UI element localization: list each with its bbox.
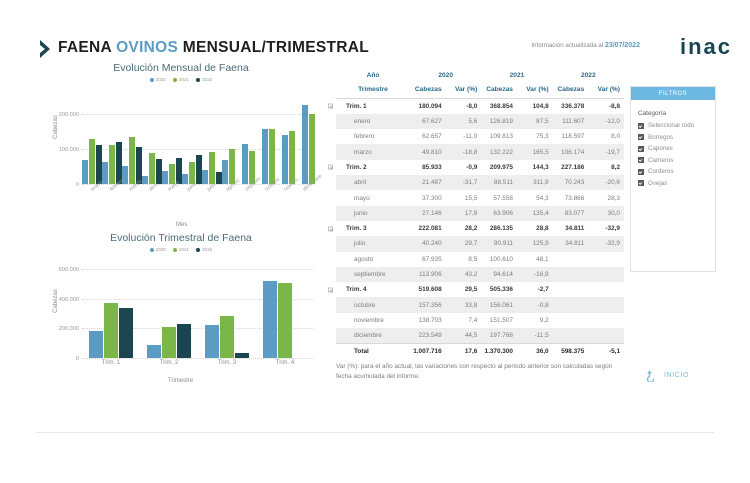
bar-2020[interactable]: [162, 171, 168, 184]
monthly-x-axis: enerofebreromarzoabrilmayojuniojulioagos…: [82, 186, 314, 220]
updated-info: Información actualizada al 23/07/2022: [531, 42, 640, 49]
cell-cabezas-2022: 598.375: [553, 343, 589, 358]
bar-2021[interactable]: [129, 137, 135, 184]
cell-cabezas-2022: [553, 267, 589, 282]
bar-group: [256, 266, 314, 358]
filter-option-label: Capones: [648, 145, 673, 152]
legend-item-2022: 2022: [196, 247, 212, 252]
cell-var-2020: 17,9: [446, 206, 482, 221]
table-body: Trim. 1180.094-8,0368.854104,8336.378-8,…: [336, 99, 624, 359]
row-period-label: mayo: [336, 190, 410, 205]
cell-var-2022: -32,9: [588, 236, 624, 251]
row-period-label: junio: [336, 206, 410, 221]
table-header-years: Año 2020 2021 2022: [336, 68, 624, 83]
cell-cabezas-2022: [553, 297, 589, 312]
bar-group: [242, 96, 262, 184]
bar-2021[interactable]: [278, 283, 292, 358]
cell-var-2022: 30,0: [588, 206, 624, 221]
cell-cabezas-2022: 83.077: [553, 206, 589, 221]
table-row: julio40.24029,790.911125,934.811-32,9: [336, 236, 624, 251]
table-head: Año 2020 2021 2022 Trimestre Cabezas Var…: [336, 68, 624, 99]
col-var-2021: Var (%): [517, 83, 553, 98]
bar-2021[interactable]: [149, 153, 155, 184]
bar-2020[interactable]: [205, 325, 219, 358]
quarterly-chart: Evolución Trimestral de Faena 2020202120…: [36, 232, 326, 402]
collapse-toggle-icon[interactable]: [328, 226, 333, 231]
table-row: marzo49.810-18,8132.222165,5106.174-19,7: [336, 144, 624, 159]
bar-group: [282, 96, 302, 184]
legend-item-2020: 2020: [150, 77, 166, 82]
cell-var-2020: 15,5: [446, 190, 482, 205]
bar-group: [198, 266, 256, 358]
x-axis-tick-label: Trim. 1: [82, 360, 140, 382]
col-year-2020: 2020: [410, 68, 481, 83]
filters-body: Categoría Seleccionar todoBorregosCapone…: [631, 100, 715, 197]
cell-cabezas-2021: 109.813: [481, 129, 517, 144]
bar-2020[interactable]: [202, 170, 208, 184]
bar-group: [82, 96, 102, 184]
legend-label: 2021: [179, 77, 189, 82]
monthly-chart-title: Evolución Mensual de Faena: [36, 62, 326, 74]
filters-title: FILTROS: [631, 87, 715, 100]
cell-cabezas-2021: 286.135: [481, 221, 517, 236]
legend-label: 2022: [202, 77, 212, 82]
page-title-suffix: MENSUAL/TRIMESTRAL: [183, 39, 369, 56]
cell-var-2021: 48,1: [517, 252, 553, 267]
table-row: Total1.007.71617,61.370.30036,0598.375-5…: [336, 343, 624, 358]
col-year-2022: 2022: [553, 68, 624, 83]
bar-group: [262, 96, 282, 184]
bar-2021[interactable]: [104, 303, 118, 358]
row-period-label: septiembre: [336, 267, 410, 282]
table-header-subcolumns: Trimestre Cabezas Var (%) Cabezas Var (%…: [336, 83, 624, 98]
monthly-plot-area: 0100.000200.000: [82, 96, 314, 184]
cell-var-2020: 17,6: [446, 343, 482, 358]
bar-2021[interactable]: [89, 139, 95, 184]
table-row: octubre157.35633,8156.061-0,8: [336, 297, 624, 312]
col-cabezas-2021: Cabezas: [481, 83, 517, 98]
checkbox-checked-icon[interactable]: [638, 146, 644, 152]
cell-var-2022: -20,6: [588, 175, 624, 190]
row-period-label: Trim. 1: [336, 99, 410, 114]
filter-group-label: Categoría: [638, 110, 709, 117]
row-period-label: Total: [336, 343, 410, 358]
filter-option-capones[interactable]: Capones: [638, 145, 709, 152]
cell-cabezas-2020: 67.627: [410, 114, 446, 129]
page-title-prefix: FAENA: [58, 39, 111, 56]
legend-item-2022: 2022: [196, 77, 212, 82]
cell-cabezas-2022: [553, 282, 589, 297]
legend-swatch-icon: [196, 248, 200, 252]
filter-option-carneros[interactable]: Carneros: [638, 157, 709, 164]
table-row[interactable]: Trim. 4519.60829,5505.336-2,7: [336, 282, 624, 297]
cell-var-2022: [588, 282, 624, 297]
row-period-label: noviembre: [336, 313, 410, 328]
cell-var-2020: -8,0: [446, 99, 482, 114]
bar-2021[interactable]: [109, 145, 115, 184]
cell-cabezas-2021: 1.370.300: [481, 343, 517, 358]
cell-var-2022: -19,7: [588, 144, 624, 159]
cell-var-2021: -11,5: [517, 328, 553, 343]
filter-option-corderos[interactable]: Corderos: [638, 168, 709, 175]
cell-var-2021: 125,9: [517, 236, 553, 251]
quarterly-chart-legend: 202020212022: [36, 247, 326, 252]
legend-swatch-icon: [196, 78, 200, 82]
table-row: diciembre223.54944,5197.768-11,5: [336, 328, 624, 343]
page-title: FAENA OVINOS MENSUAL/TRIMESTRAL: [58, 39, 369, 57]
cell-cabezas-2022: 336.378: [553, 99, 589, 114]
cell-cabezas-2020: 1.007.716: [410, 343, 446, 358]
cell-var-2020: 8,5: [446, 252, 482, 267]
updated-date: 23/07/2022: [605, 42, 640, 49]
bar-2020[interactable]: [282, 135, 288, 184]
cell-cabezas-2021: 63.906: [481, 206, 517, 221]
table-row: junio27.14617,963.906135,483.07730,0: [336, 206, 624, 221]
bar-group-container: [82, 96, 314, 184]
bar-group: [102, 96, 122, 184]
back-arrow-icon: [645, 368, 659, 382]
cell-cabezas-2021: 209.975: [481, 160, 517, 175]
cell-var-2022: [588, 267, 624, 282]
cell-cabezas-2020: 27.146: [410, 206, 446, 221]
cell-var-2022: -8,8: [588, 99, 624, 114]
cell-cabezas-2021: 368.854: [481, 99, 517, 114]
bar-2020[interactable]: [147, 345, 161, 358]
cell-cabezas-2021: 94.614: [481, 267, 517, 282]
cell-cabezas-2021: 100.610: [481, 252, 517, 267]
cell-var-2021: 54,3: [517, 190, 553, 205]
filter-option-borregos[interactable]: Borregos: [638, 134, 709, 141]
legend-item-2020: 2020: [150, 247, 166, 252]
cell-var-2020: 29,7: [446, 236, 482, 251]
cell-var-2021: -16,9: [517, 267, 553, 282]
updated-label: Información actualizada al: [531, 42, 603, 49]
cell-cabezas-2020: 519.608: [410, 282, 446, 297]
bar-group: [162, 96, 182, 184]
y-axis-tick-label: 0: [76, 356, 79, 362]
bar-2022[interactable]: [119, 308, 133, 358]
cell-cabezas-2021: 126.819: [481, 114, 517, 129]
bar-2020[interactable]: [82, 160, 88, 184]
cell-cabezas-2022: 34.811: [553, 236, 589, 251]
cell-cabezas-2020: 62.657: [410, 129, 446, 144]
checkbox-checked-icon[interactable]: [638, 123, 644, 129]
collapse-toggle-icon[interactable]: [328, 104, 333, 109]
row-period-label: octubre: [336, 297, 410, 312]
cell-cabezas-2022: 34.811: [553, 221, 589, 236]
bar-2020[interactable]: [102, 162, 108, 184]
table-row: agosto67.9358,5100.61048,1: [336, 252, 624, 267]
bar-2020[interactable]: [302, 105, 308, 184]
gridline: 0: [82, 358, 314, 359]
cell-var-2022: -12,0: [588, 114, 624, 129]
x-axis-tick-label: Trim. 4: [256, 360, 314, 382]
chevron-right-icon: [38, 39, 52, 59]
table-row: enero67.6275,6126.81987,5111.607-12,0: [336, 114, 624, 129]
bar-2021[interactable]: [162, 327, 176, 358]
cell-var-2020: 29,5: [446, 282, 482, 297]
legend-label: 2021: [179, 247, 189, 252]
faena-data-table: Año 2020 2021 2022 Trimestre Cabezas Var…: [336, 68, 624, 359]
bar-group: [182, 96, 202, 184]
bar-2021[interactable]: [309, 114, 315, 184]
filter-option-label: Carneros: [648, 157, 673, 164]
cell-var-2021: 135,4: [517, 206, 553, 221]
cell-cabezas-2022: 118.597: [553, 129, 589, 144]
monthly-y-axis-title: Cabezas: [53, 115, 59, 139]
cell-cabezas-2021: 505.336: [481, 282, 517, 297]
y-axis-tick-label: 200.000: [59, 326, 79, 332]
col-year-label: Año: [336, 68, 410, 83]
filters-panel: FILTROS Categoría Seleccionar todoBorreg…: [630, 86, 716, 272]
cell-var-2020: 44,5: [446, 328, 482, 343]
cell-var-2020: -11,0: [446, 129, 482, 144]
bar-2022[interactable]: [235, 353, 249, 358]
filter-option-list: Seleccionar todoBorregosCaponesCarnerosC…: [638, 122, 709, 187]
row-period-label: marzo: [336, 144, 410, 159]
legend-swatch-icon: [173, 248, 177, 252]
row-period-label: enero: [336, 114, 410, 129]
col-cabezas-2022: Cabezas: [553, 83, 589, 98]
cell-cabezas-2020: 37.300: [410, 190, 446, 205]
y-axis-tick-label: 100.000: [59, 147, 79, 153]
filter-option-seleccionar-todo[interactable]: Seleccionar todo: [638, 122, 709, 129]
cell-var-2021: 87,5: [517, 114, 553, 129]
cell-cabezas-2020: 222.081: [410, 221, 446, 236]
legend-item-2021: 2021: [173, 77, 189, 82]
cell-cabezas-2022: 111.607: [553, 114, 589, 129]
cell-cabezas-2022: 70.243: [553, 175, 589, 190]
bar-2020[interactable]: [242, 144, 248, 184]
bar-2021[interactable]: [289, 131, 295, 184]
cell-cabezas-2020: 138.703: [410, 313, 446, 328]
cell-cabezas-2022: 227.186: [553, 160, 589, 175]
row-period-label: julio: [336, 236, 410, 251]
row-period-label: Trim. 4: [336, 282, 410, 297]
cell-var-2022: -32,9: [588, 221, 624, 236]
cell-cabezas-2020: 180.094: [410, 99, 446, 114]
cell-var-2020: -0,9: [446, 160, 482, 175]
checkbox-checked-icon[interactable]: [638, 134, 644, 140]
cell-cabezas-2021: 156.061: [481, 297, 517, 312]
filter-option-label: Corderos: [648, 168, 673, 175]
monthly-chart-legend: 202020212022: [36, 77, 326, 82]
bar-group: [140, 266, 198, 358]
cell-var-2020: 43,2: [446, 267, 482, 282]
collapse-toggle-icon[interactable]: [328, 165, 333, 170]
filter-option-label: Ovejas: [648, 180, 667, 187]
cell-var-2021: 104,8: [517, 99, 553, 114]
quarterly-plot-area: 0200.000400.000600.000: [82, 266, 314, 358]
y-axis-tick-label: 400.000: [59, 297, 79, 303]
cell-var-2021: 9,2: [517, 313, 553, 328]
cell-cabezas-2020: 157.356: [410, 297, 446, 312]
x-axis-tick-label: Trim. 3: [198, 360, 256, 382]
cell-cabezas-2022: 73.866: [553, 190, 589, 205]
cell-cabezas-2022: [553, 252, 589, 267]
cell-var-2022: -5,1: [588, 343, 624, 358]
data-table-container: Año 2020 2021 2022 Trimestre Cabezas Var…: [336, 68, 624, 359]
legend-label: 2022: [202, 247, 212, 252]
table-row[interactable]: Trim. 285.933-0,9209.975144,3227.1868,2: [336, 160, 624, 175]
inac-logo: inac: [680, 34, 732, 60]
cell-cabezas-2020: 223.549: [410, 328, 446, 343]
cell-var-2022: [588, 297, 624, 312]
table-row: septiembre113.90643,294.614-16,9: [336, 267, 624, 282]
table-row: mayo37.30015,557.55854,373.86628,3: [336, 190, 624, 205]
y-axis-tick-label: 200.000: [59, 112, 79, 118]
row-period-label: agosto: [336, 252, 410, 267]
cell-cabezas-2022: [553, 313, 589, 328]
filter-option-ovejas[interactable]: Ovejas: [638, 180, 709, 187]
footer-divider: [36, 432, 714, 433]
col-year-2021: 2021: [481, 68, 552, 83]
cell-var-2021: 311,9: [517, 175, 553, 190]
table-row: febrero62.657-11,0109.81375,3118.5978,0: [336, 129, 624, 144]
page-title-accent: OVINOS: [116, 39, 178, 56]
bar-2020[interactable]: [222, 160, 228, 184]
cell-cabezas-2020: 40.240: [410, 236, 446, 251]
cell-cabezas-2020: 85.933: [410, 160, 446, 175]
col-var-2020: Var (%): [446, 83, 482, 98]
row-period-label: diciembre: [336, 328, 410, 343]
footnote-text: Var (%): para el año actual, las variaci…: [336, 362, 626, 381]
cell-var-2022: 28,3: [588, 190, 624, 205]
table-row: noviembre138.7037,4151.5079,2: [336, 313, 624, 328]
bar-group: [122, 96, 142, 184]
row-period-label: abril: [336, 175, 410, 190]
col-var-2022: Var (%): [588, 83, 624, 98]
bar-group: [222, 96, 242, 184]
bar-2020[interactable]: [89, 331, 103, 358]
legend-item-2021: 2021: [173, 247, 189, 252]
row-period-label: Trim. 2: [336, 160, 410, 175]
cell-cabezas-2021: 197.768: [481, 328, 517, 343]
cell-cabezas-2021: 151.507: [481, 313, 517, 328]
row-period-label: Trim. 3: [336, 221, 410, 236]
cell-var-2022: [588, 252, 624, 267]
cell-cabezas-2021: 88.511: [481, 175, 517, 190]
cell-var-2021: -0,8: [517, 297, 553, 312]
cell-var-2020: 28,2: [446, 221, 482, 236]
cell-cabezas-2021: 90.911: [481, 236, 517, 251]
cell-var-2021: 75,3: [517, 129, 553, 144]
legend-swatch-icon: [150, 248, 154, 252]
bar-group: [82, 266, 140, 358]
bar-group: [142, 96, 162, 184]
quarterly-chart-title: Evolución Trimestral de Faena: [36, 232, 326, 244]
bar-2020[interactable]: [263, 281, 277, 358]
bar-2021[interactable]: [209, 152, 215, 184]
cell-cabezas-2022: [553, 328, 589, 343]
legend-swatch-icon: [150, 78, 154, 82]
table-row: abril21.487-31,788.511311,970.243-20,6: [336, 175, 624, 190]
checkbox-checked-icon[interactable]: [638, 169, 644, 175]
bar-group-container: [82, 266, 314, 358]
cell-var-2022: 8,0: [588, 129, 624, 144]
page-header: FAENA OVINOS MENSUAL/TRIMESTRAL Informac…: [0, 0, 750, 70]
cell-var-2022: [588, 313, 624, 328]
cell-var-2021: 144,3: [517, 160, 553, 175]
cell-cabezas-2021: 57.558: [481, 190, 517, 205]
table-row[interactable]: Trim. 1180.094-8,0368.854104,8336.378-8,…: [336, 99, 624, 114]
legend-label: 2020: [156, 77, 166, 82]
inicio-label: INICIO: [664, 372, 689, 379]
bar-group: [202, 96, 222, 184]
filter-option-label: Borregos: [648, 134, 673, 141]
cell-cabezas-2020: 113.906: [410, 267, 446, 282]
table-row[interactable]: Trim. 3222.08128,2286.13528,834.811-32,9: [336, 221, 624, 236]
legend-swatch-icon: [173, 78, 177, 82]
cell-var-2021: 165,5: [517, 144, 553, 159]
filter-option-label: Seleccionar todo: [648, 122, 694, 129]
quarterly-x-axis-title: Trimestre: [168, 378, 193, 384]
bar-2021[interactable]: [220, 316, 234, 358]
cell-var-2020: 33,8: [446, 297, 482, 312]
y-axis-tick-label: 600.000: [59, 267, 79, 273]
cell-var-2021: 28,8: [517, 221, 553, 236]
monthly-x-axis-title: Mes: [176, 222, 187, 228]
bar-2020[interactable]: [182, 174, 188, 184]
inicio-link[interactable]: INICIO: [645, 368, 689, 382]
bar-2022[interactable]: [177, 324, 191, 358]
cell-cabezas-2020: 21.487: [410, 175, 446, 190]
cell-var-2021: 36,0: [517, 343, 553, 358]
y-axis-tick-label: 0: [76, 182, 79, 188]
monthly-chart: Evolución Mensual de Faena 202020212022 …: [36, 62, 326, 232]
cell-cabezas-2021: 132.222: [481, 144, 517, 159]
checkbox-checked-icon[interactable]: [638, 180, 644, 186]
col-cabezas-2020: Cabezas: [410, 83, 446, 98]
cell-var-2021: -2,7: [517, 282, 553, 297]
cell-var-2020: 5,6: [446, 114, 482, 129]
col-period-label: Trimestre: [336, 83, 410, 98]
cell-var-2022: [588, 328, 624, 343]
cell-var-2022: 8,2: [588, 160, 624, 175]
quarterly-x-axis: Trim. 1Trim. 2Trim. 3Trim. 4: [82, 360, 314, 382]
row-period-label: febrero: [336, 129, 410, 144]
cell-var-2020: -31,7: [446, 175, 482, 190]
bar-2021[interactable]: [269, 129, 275, 184]
cell-cabezas-2020: 67.935: [410, 252, 446, 267]
bar-group: [302, 96, 322, 184]
dashboard-page: FAENA OVINOS MENSUAL/TRIMESTRAL Informac…: [0, 0, 750, 483]
cell-cabezas-2020: 49.810: [410, 144, 446, 159]
cell-var-2020: 7,4: [446, 313, 482, 328]
cell-cabezas-2022: 106.174: [553, 144, 589, 159]
cell-var-2020: -18,8: [446, 144, 482, 159]
collapse-toggle-icon[interactable]: [328, 287, 333, 292]
legend-label: 2020: [156, 247, 166, 252]
checkbox-checked-icon[interactable]: [638, 157, 644, 163]
